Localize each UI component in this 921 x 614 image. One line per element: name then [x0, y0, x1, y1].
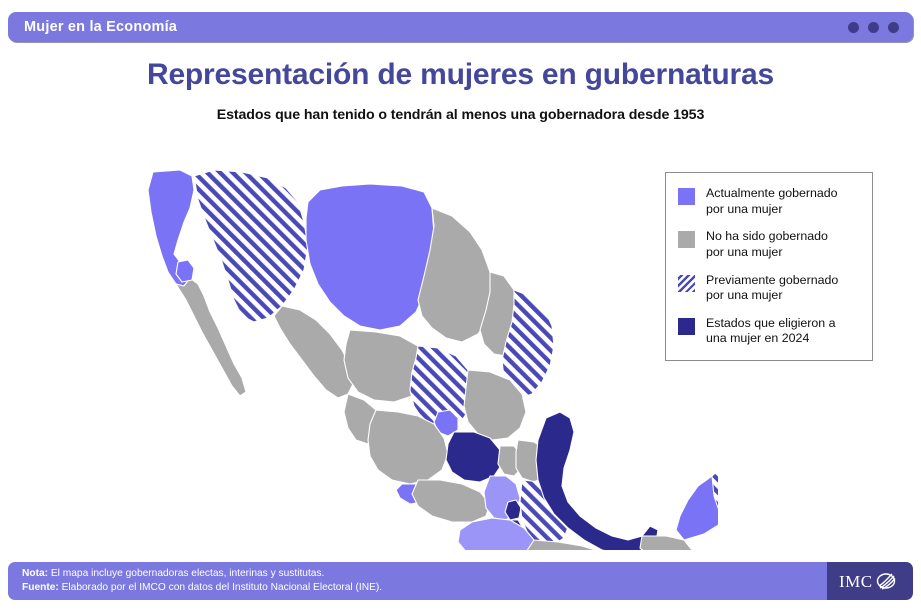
window-title: Mujer en la Economía [24, 19, 177, 35]
legend-label-elected-2024: Estados que eligieron a una mujer en 202… [706, 316, 836, 347]
window-title-bar: Mujer en la Economía [8, 12, 913, 42]
legend-swatch-elected-2024 [678, 318, 695, 335]
headings-block: Representación de mujeres en gubernatura… [0, 58, 921, 123]
window-dot-1[interactable] [848, 22, 859, 33]
legend-item-never[interactable]: No ha sido gobernado por una mujer [678, 229, 862, 260]
footer-source-line: Fuente: Elaborado por el IMCO con datos … [22, 581, 827, 595]
imco-logo[interactable]: IMC [827, 562, 913, 600]
footer-note-block: Nota: El mapa incluye gobernadoras elect… [8, 562, 827, 600]
legend-swatch-never [678, 231, 695, 248]
legend-item-previous[interactable]: Previamente gobernado por una mujer [678, 273, 862, 304]
window-controls[interactable] [848, 22, 899, 33]
map-legend: Actualmente gobernado por una mujer No h… [665, 172, 873, 361]
window-dot-3[interactable] [888, 22, 899, 33]
footer-note-text: El mapa incluye gobernadoras electas, in… [48, 568, 324, 579]
page-title: Representación de mujeres en gubernatura… [0, 58, 921, 91]
legend-swatch-previous [678, 275, 695, 292]
footer-bar: Nota: El mapa incluye gobernadoras elect… [8, 562, 913, 600]
state-campeche[interactable] [676, 472, 718, 540]
state-sonora[interactable] [194, 170, 308, 322]
footer-note-label: Nota: [22, 568, 48, 579]
imco-swirl-icon [878, 574, 896, 589]
page-subtitle: Estados que han tenido o tendrán al meno… [0, 107, 921, 123]
state-sinaloa[interactable] [274, 306, 354, 398]
footer-source-text: Elaborado por el IMCO con datos del Inst… [59, 582, 382, 593]
legend-item-current[interactable]: Actualmente gobernado por una mujer [678, 186, 862, 217]
legend-label-previous: Previamente gobernado por una mujer [706, 273, 838, 304]
legend-label-never: No ha sido gobernado por una mujer [706, 229, 828, 260]
window-dot-2[interactable] [868, 22, 879, 33]
legend-label-current: Actualmente gobernado por una mujer [706, 186, 838, 217]
mexico-choropleth-map [118, 150, 718, 550]
state-chihuahua[interactable] [306, 184, 434, 330]
state-michoacan[interactable] [412, 480, 490, 522]
legend-item-elected-2024[interactable]: Estados que eligieron a una mujer en 202… [678, 316, 862, 347]
svg-text:IMC: IMC [839, 572, 873, 591]
footer-source-label: Fuente: [22, 582, 59, 593]
footer-note-line: Nota: El mapa incluye gobernadoras elect… [22, 567, 827, 581]
legend-swatch-current [678, 188, 695, 205]
